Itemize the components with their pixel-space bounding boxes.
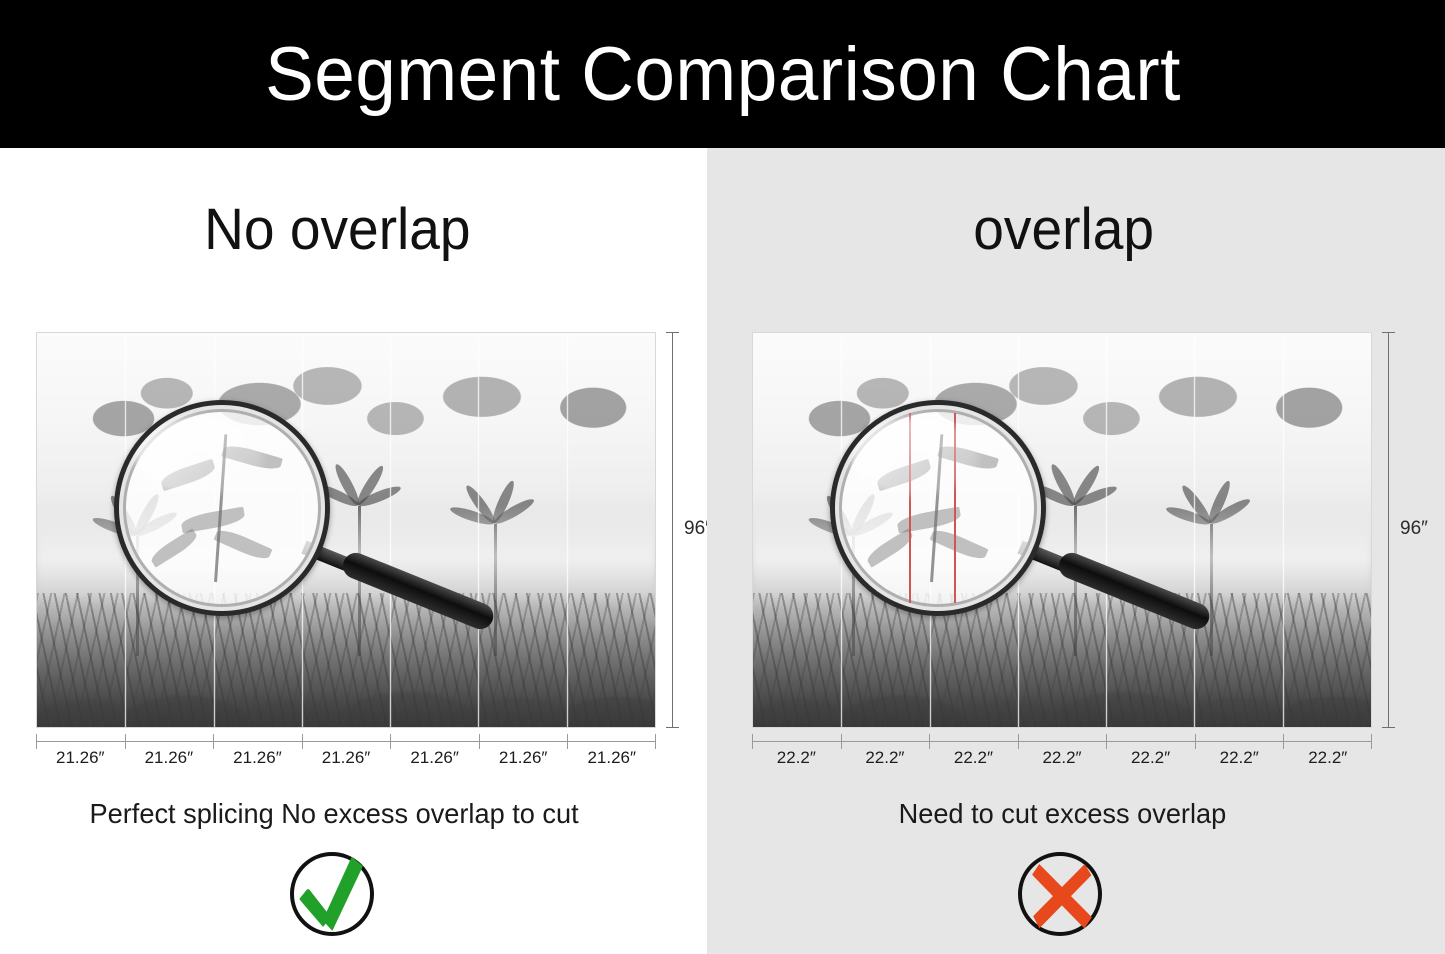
- segment-width-label: 21.26″: [390, 748, 479, 768]
- page-title: Segment Comparison Chart: [265, 31, 1181, 118]
- segment-width-label: 22.2″: [1283, 748, 1372, 768]
- mural-overlap: 96″ 22.2″22.2″22.2″22.2″22.2″22.2″22.2″: [752, 332, 1372, 728]
- panel-seam: [930, 333, 931, 727]
- width-dimension-line-left: [36, 741, 656, 742]
- height-dimension-line-right: [1388, 332, 1389, 728]
- panel-seam: [1194, 333, 1195, 727]
- segment-width-label: 22.2″: [1195, 748, 1284, 768]
- comparison-panels: No overlap: [0, 148, 1445, 954]
- cross-icon: [1014, 848, 1110, 944]
- segment-width-labels-left: 21.26″21.26″21.26″21.26″21.26″21.26″21.2…: [36, 748, 656, 768]
- segment-width-label: 21.26″: [125, 748, 214, 768]
- panel-heading-overlap: overlap: [725, 196, 1426, 263]
- panel-seam: [1018, 333, 1019, 727]
- panel-seam: [478, 333, 479, 727]
- width-dimension-line-right: [752, 741, 1372, 742]
- panel-overlap: overlap: [707, 148, 1445, 954]
- caption-overlap: Need to cut excess overlap: [718, 798, 1434, 830]
- segment-width-label: 21.26″: [302, 748, 391, 768]
- segment-width-label: 21.26″: [479, 748, 568, 768]
- title-banner: Segment Comparison Chart: [0, 0, 1445, 148]
- panel-seam: [1283, 333, 1284, 727]
- panel-seam: [125, 333, 126, 727]
- segment-width-label: 22.2″: [929, 748, 1018, 768]
- grass-layer-left: [37, 593, 655, 727]
- panel-seam: [567, 333, 568, 727]
- segment-width-labels-right: 22.2″22.2″22.2″22.2″22.2″22.2″22.2″: [752, 748, 1372, 768]
- segment-width-label: 21.26″: [213, 748, 302, 768]
- caption-no-overlap: Perfect splicing No excess overlap to cu…: [11, 798, 697, 830]
- mural-image-right: [752, 332, 1372, 728]
- panel-heading-no-overlap: No overlap: [18, 196, 690, 263]
- segment-width-label: 22.2″: [1018, 748, 1107, 768]
- panel-seam: [841, 333, 842, 727]
- verdict-overlap: [707, 848, 1445, 944]
- segment-width-label: 22.2″: [1106, 748, 1195, 768]
- segment-width-label: 21.26″: [36, 748, 125, 768]
- grass-layer-right: [753, 593, 1371, 727]
- panel-seam: [302, 333, 303, 727]
- segment-width-label: 22.2″: [752, 748, 841, 768]
- segment-width-label: 21.26″: [567, 748, 656, 768]
- panel-no-overlap: No overlap: [0, 148, 707, 954]
- height-dimension-label-right: 96″: [1400, 518, 1428, 540]
- verdict-no-overlap: [0, 848, 707, 944]
- mural-no-overlap: 96″ 21.26″21.26″21.26″21.26″21.26″21.26″…: [36, 332, 656, 728]
- check-icon: [286, 848, 382, 944]
- segment-width-label: 22.2″: [841, 748, 930, 768]
- mural-image-left: [36, 332, 656, 728]
- panel-seam: [390, 333, 391, 727]
- panel-seam: [1106, 333, 1107, 727]
- panel-seam: [214, 333, 215, 727]
- height-dimension-line-left: [672, 332, 673, 728]
